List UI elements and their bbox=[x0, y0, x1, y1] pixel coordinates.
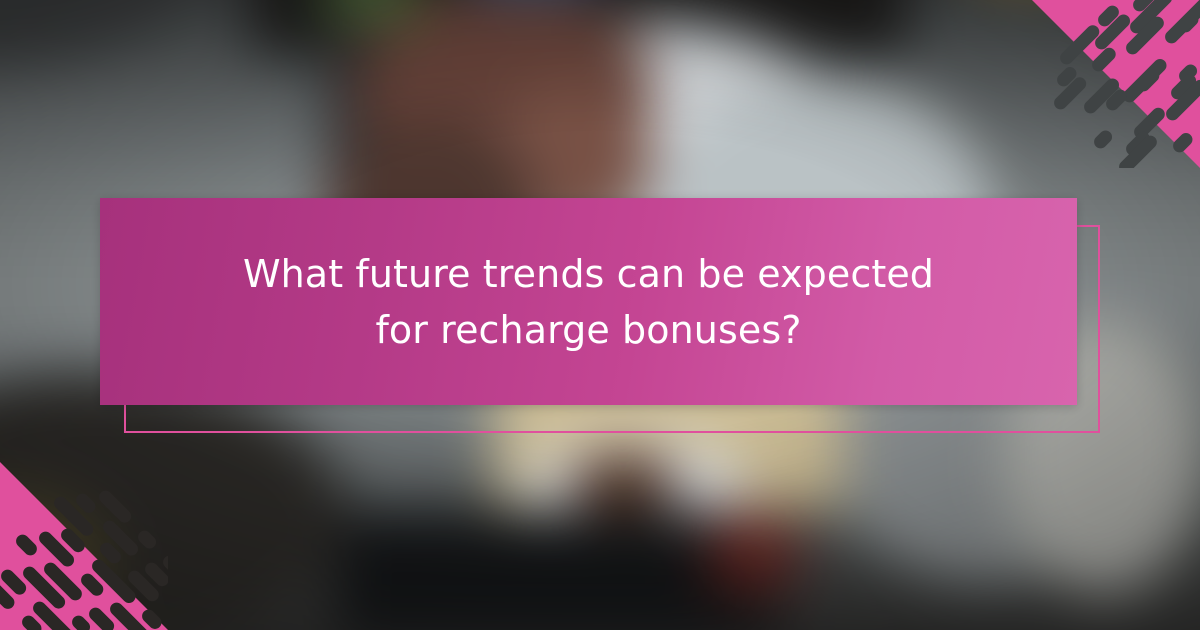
share-card: What future trends can be expected for r… bbox=[0, 0, 1200, 630]
headline-banner: What future trends can be expected for r… bbox=[100, 198, 1077, 405]
page-title: What future trends can be expected for r… bbox=[224, 246, 954, 358]
